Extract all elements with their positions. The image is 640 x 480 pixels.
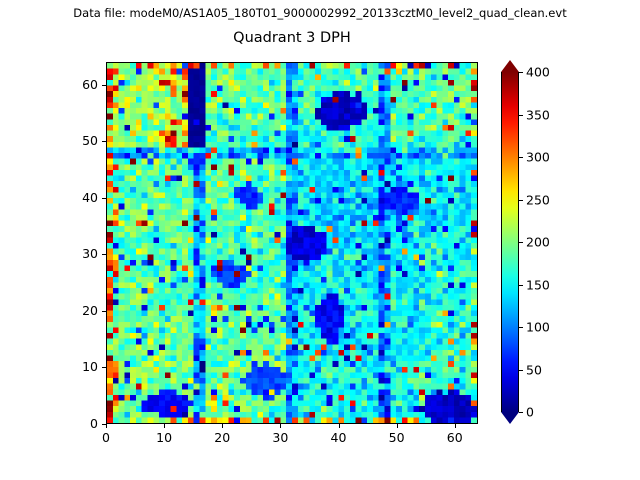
colorbar-tick-mark bbox=[519, 327, 523, 328]
colorbar-tick-mark bbox=[519, 157, 523, 158]
colorbar-tick-label: 250 bbox=[526, 192, 550, 207]
x-tick-mark bbox=[106, 424, 107, 428]
y-tick-mark bbox=[102, 311, 106, 312]
heatmap-image bbox=[107, 63, 477, 423]
x-tick-label: 50 bbox=[377, 430, 417, 445]
colorbar-tick-label: 150 bbox=[526, 277, 550, 292]
y-tick-label: 50 bbox=[70, 133, 98, 148]
matplotlib-figure: Data file: modeM0/AS1A05_180T01_90000029… bbox=[0, 0, 640, 480]
y-tick-mark bbox=[102, 85, 106, 86]
x-tick-label: 10 bbox=[144, 430, 184, 445]
colorbar-over-arrow bbox=[501, 60, 519, 72]
colorbar-tick-mark bbox=[519, 115, 523, 116]
x-tick-mark bbox=[455, 424, 456, 428]
x-tick-mark bbox=[397, 424, 398, 428]
colorbar-gradient bbox=[501, 72, 519, 412]
colorbar-tick-label: 100 bbox=[526, 320, 550, 335]
colorbar-tick-label: 50 bbox=[526, 362, 542, 377]
colorbar-tick-mark bbox=[519, 370, 523, 371]
y-tick-label: 20 bbox=[70, 303, 98, 318]
colorbar-tick-label: 0 bbox=[526, 405, 534, 420]
colorbar-tick-label: 400 bbox=[526, 65, 550, 80]
figure-suptitle: Data file: modeM0/AS1A05_180T01_90000029… bbox=[0, 6, 640, 20]
colorbar-tick-mark bbox=[519, 200, 523, 201]
x-tick-label: 60 bbox=[435, 430, 475, 445]
y-tick-mark bbox=[102, 198, 106, 199]
x-tick-label: 20 bbox=[202, 430, 242, 445]
y-tick-mark bbox=[102, 254, 106, 255]
colorbar-tick-mark bbox=[519, 72, 523, 73]
x-tick-mark bbox=[339, 424, 340, 428]
x-tick-label: 0 bbox=[86, 430, 126, 445]
y-tick-label: 10 bbox=[70, 359, 98, 374]
colorbar-tick-label: 300 bbox=[526, 150, 550, 165]
y-tick-mark bbox=[102, 424, 106, 425]
x-tick-mark bbox=[280, 424, 281, 428]
y-tick-label: 30 bbox=[70, 246, 98, 261]
colorbar-tick-mark bbox=[519, 242, 523, 243]
y-tick-label: 40 bbox=[70, 190, 98, 205]
colorbar-tick-mark bbox=[519, 412, 523, 413]
y-tick-mark bbox=[102, 367, 106, 368]
x-tick-mark bbox=[164, 424, 165, 428]
x-tick-mark bbox=[222, 424, 223, 428]
colorbar-under-arrow bbox=[501, 412, 519, 424]
x-tick-label: 30 bbox=[260, 430, 300, 445]
y-tick-mark bbox=[102, 141, 106, 142]
y-tick-label: 60 bbox=[70, 77, 98, 92]
heatmap-axes[interactable] bbox=[106, 62, 478, 424]
colorbar-tick-mark bbox=[519, 285, 523, 286]
colorbar-tick-label: 200 bbox=[526, 235, 550, 250]
y-tick-label: 0 bbox=[70, 416, 98, 431]
axes-title: Quadrant 3 DPH bbox=[106, 30, 478, 46]
colorbar-tick-label: 350 bbox=[526, 107, 550, 122]
colorbar[interactable]: 050100150200250300350400 bbox=[501, 60, 519, 424]
x-tick-label: 40 bbox=[319, 430, 359, 445]
